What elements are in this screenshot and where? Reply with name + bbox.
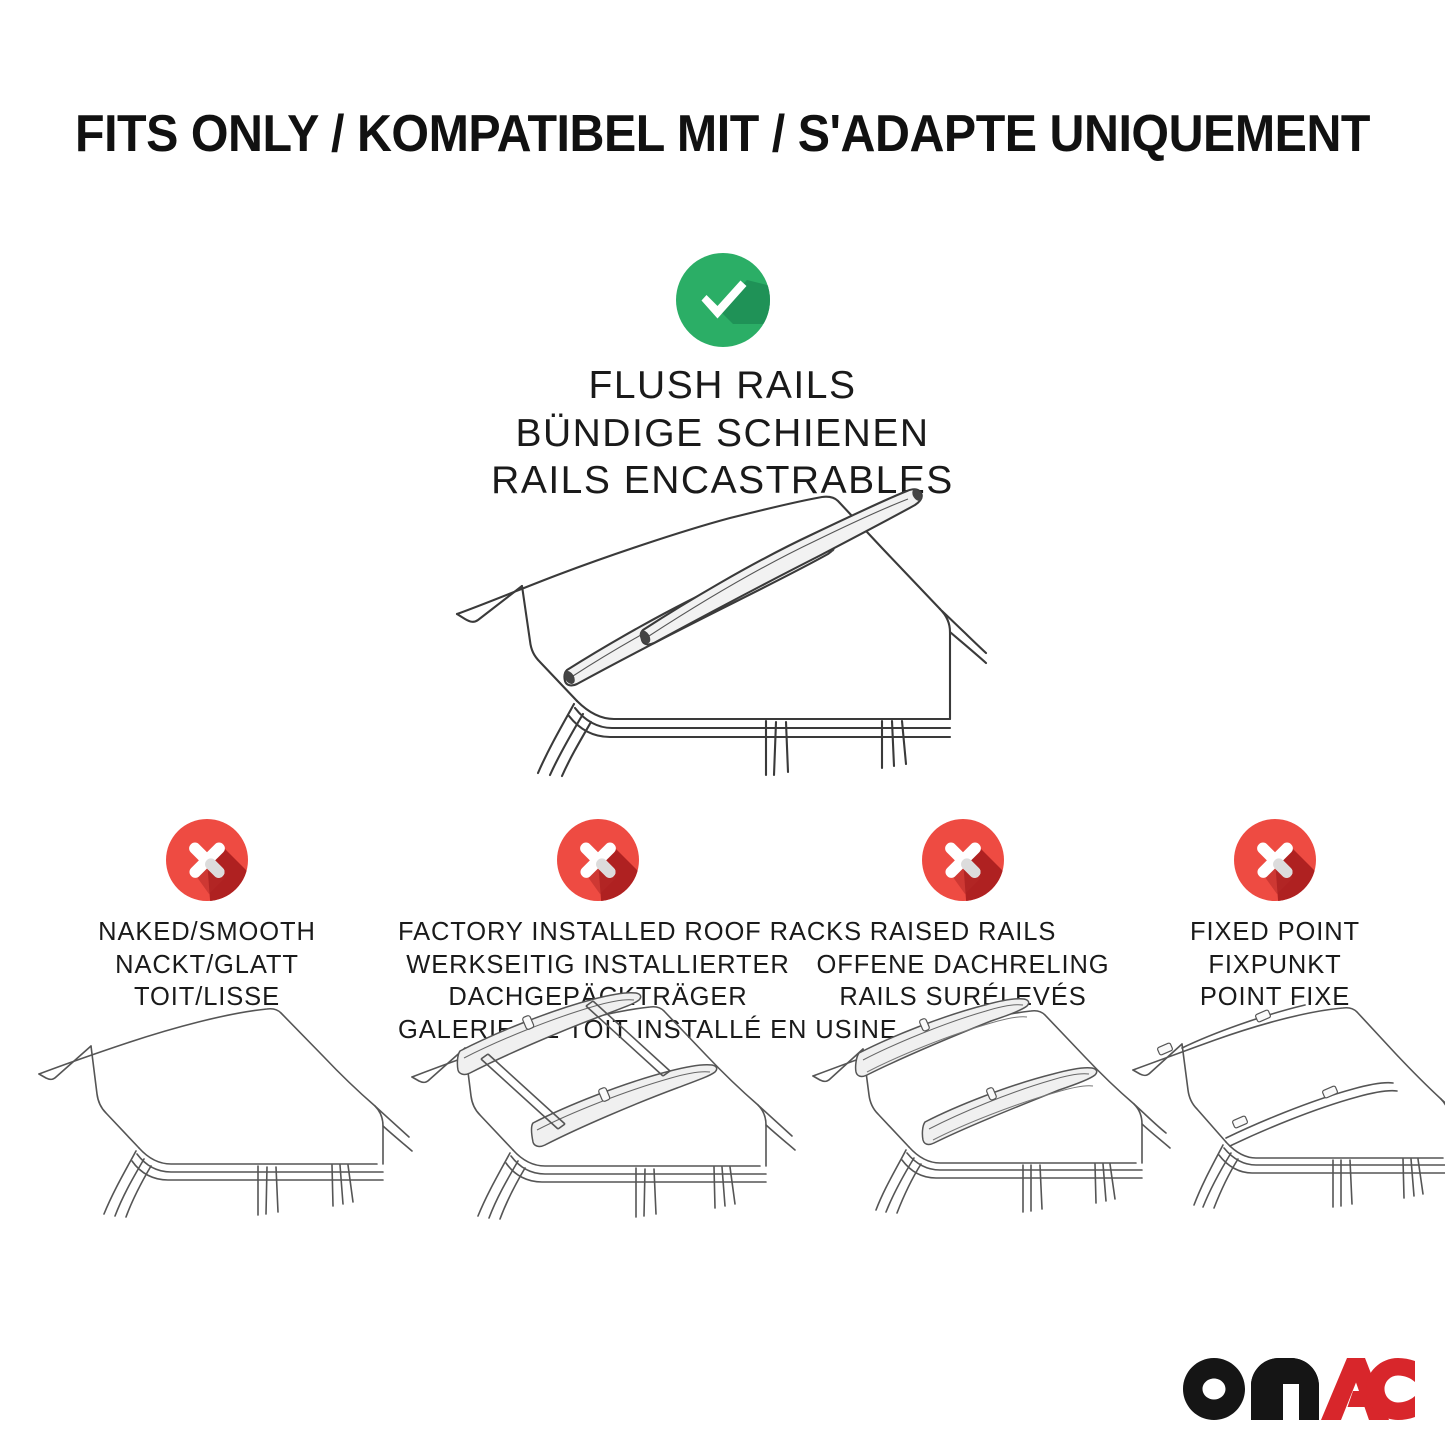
incompatible-item-raised-rails: RAISED RAILS OFFENE DACHRELING RAILS SUR… bbox=[803, 818, 1123, 1014]
label-line-de-1: WERKSEITIG INSTALLIERTER bbox=[398, 949, 798, 982]
red-x-circle-icon bbox=[1233, 818, 1317, 902]
page-title: FITS ONLY / KOMPATIBEL MIT / S'ADAPTE UN… bbox=[51, 104, 1395, 164]
incompatible-item-naked-smooth: NAKED/SMOOTH NACKT/GLATT TOIT/LISSE bbox=[27, 818, 387, 1014]
label-line-en: NAKED/SMOOTH bbox=[27, 916, 387, 949]
green-check-circle-icon bbox=[675, 252, 771, 348]
logo-letter-m bbox=[1251, 1358, 1319, 1420]
label-line-de: FIXPUNKT bbox=[1125, 949, 1425, 982]
compatible-label-de: BÜNDIGE SCHIENEN bbox=[0, 410, 1445, 458]
incompatible-item-factory-installed-roof-racks: FACTORY INSTALLED ROOF RACKS WERKSEITIG … bbox=[398, 818, 798, 1047]
label-line-de: OFFENE DACHRELING bbox=[803, 949, 1123, 982]
red-x-circle-icon bbox=[921, 818, 1005, 902]
car-roof-naked-smooth-illustration bbox=[27, 1008, 387, 1223]
compatible-section: FLUSH RAILS BÜNDIGE SCHIENEN RAILS ENCAS… bbox=[0, 252, 1445, 505]
car-roof-factory-installed-roof-racks-illustration bbox=[398, 993, 798, 1228]
car-roof-raised-rails-illustration bbox=[803, 1000, 1123, 1225]
car-roof-fixed-point-illustration bbox=[1125, 1008, 1425, 1223]
red-x-circle-icon bbox=[556, 818, 640, 902]
incompatible-labels: NAKED/SMOOTH NACKT/GLATT TOIT/LISSE bbox=[27, 916, 387, 1014]
label-line-en: FIXED POINT bbox=[1125, 916, 1425, 949]
compatible-label-en: FLUSH RAILS bbox=[0, 362, 1445, 410]
label-line-en: FACTORY INSTALLED ROOF RACKS bbox=[398, 916, 798, 949]
incompatible-labels: FIXED POINT FIXPUNKT POINT FIXE bbox=[1125, 916, 1425, 1014]
logo-letter-o bbox=[1183, 1358, 1245, 1420]
omac-logo bbox=[1183, 1358, 1415, 1420]
compatibility-infographic: FITS ONLY / KOMPATIBEL MIT / S'ADAPTE UN… bbox=[0, 0, 1445, 1445]
incompatible-item-fixed-point: FIXED POINT FIXPUNKT POINT FIXE bbox=[1125, 818, 1425, 1014]
label-line-en: RAISED RAILS bbox=[803, 916, 1123, 949]
red-x-circle-icon bbox=[165, 818, 249, 902]
label-line-de: NACKT/GLATT bbox=[27, 949, 387, 982]
incompatible-section: NAKED/SMOOTH NACKT/GLATT TOIT/LISSE bbox=[0, 818, 1445, 1438]
car-roof-with-flush-rails-illustration bbox=[430, 478, 1030, 778]
